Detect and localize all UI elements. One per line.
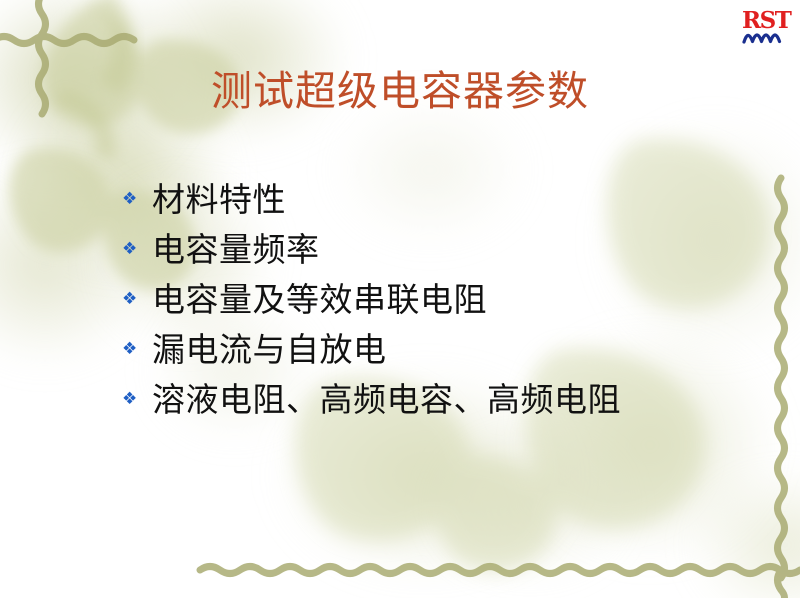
diamond-bullet-icon: ❖ [122, 328, 152, 370]
list-item-label: 电容量及等效串联电阻 [152, 278, 782, 322]
diamond-bullet-icon: ❖ [122, 178, 152, 220]
bullet-list: ❖ 材料特性 ❖ 电容量频率 ❖ 电容量及等效串联电阻 ❖ 漏电流与自放电 ❖ … [122, 178, 782, 428]
list-item-label: 电容量频率 [152, 228, 782, 272]
list-item-label: 材料特性 [152, 178, 782, 222]
diamond-bullet-icon: ❖ [122, 378, 152, 420]
presentation-slide: RST 测试超级电容器参数 ❖ 材料特性 ❖ 电容量频率 ❖ 电容量及等效串联电… [0, 0, 800, 598]
logo-text: RST [742, 7, 792, 34]
logo-wave-icon [744, 35, 780, 42]
list-item[interactable]: ❖ 材料特性 [122, 178, 782, 228]
slide-title: 测试超级电容器参数 [0, 66, 800, 116]
list-item[interactable]: ❖ 漏电流与自放电 [122, 328, 782, 378]
list-item-label: 漏电流与自放电 [152, 328, 782, 372]
rst-logo[interactable]: RST [740, 4, 792, 46]
list-item-label: 溶液电阻、高频电容、高频电阻 [152, 378, 782, 422]
diamond-bullet-icon: ❖ [122, 228, 152, 270]
diamond-bullet-icon: ❖ [122, 278, 152, 320]
list-item[interactable]: ❖ 溶液电阻、高频电容、高频电阻 [122, 378, 782, 428]
list-item[interactable]: ❖ 电容量及等效串联电阻 [122, 278, 782, 328]
list-item[interactable]: ❖ 电容量频率 [122, 228, 782, 278]
